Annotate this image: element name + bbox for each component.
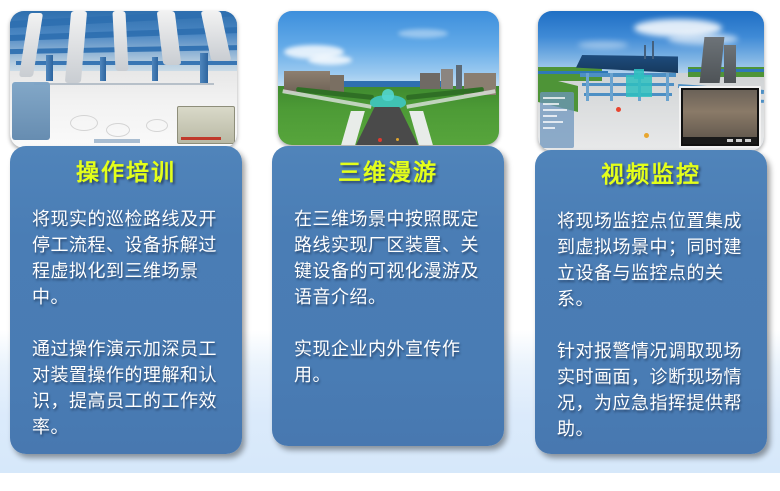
floor-circle-marking [70, 115, 98, 131]
card-paragraph: 在三维场景中按照既定路线实现厂区装置、关键设备的可视化漫游及语音介绍。 [294, 207, 484, 311]
cloud-icon [398, 29, 448, 38]
card-title-three-dimensional-roaming: 三维漫游 [272, 162, 504, 185]
marker-dot [378, 138, 382, 142]
flare-stack [652, 41, 654, 59]
alarm-marker [616, 107, 621, 112]
card-body-video-surveillance: 将现场监控点位置集成到虚拟场景中；同时建立设备与监控点的关系。 针对报警情况调取… [557, 209, 747, 443]
card-paragraph: 将现实的巡检路线及开停工流程、设备拆解过程虚拟化到三维场景中。 [32, 207, 222, 311]
card-paragraph: 针对报警情况调取现场实时画面，诊断现场情况，为应急指挥提供帮助。 [557, 339, 747, 443]
cctv-inset-window[interactable] [679, 86, 761, 148]
card-body-three-dimensional-roaming: 在三维场景中按照既定路线实现厂区装置、关键设备的可视化漫游及语音介绍。 实现企业… [294, 207, 484, 389]
plant-with-cctv-scene [538, 11, 764, 151]
background-bottom-strip [0, 473, 780, 491]
fountain-jet-icon [382, 89, 394, 101]
equipment-unit-icon [177, 106, 235, 144]
flare-stack [644, 45, 646, 59]
card-paragraph: 实现企业内外宣传作用。 [294, 337, 484, 389]
support-column-icon [200, 53, 208, 83]
building-block [420, 73, 440, 89]
video-surveillance-panel: 视频监控 将现场监控点位置集成到虚拟场景中；同时建立设备与监控点的关系。 针对报… [535, 150, 767, 454]
floor-marking [34, 83, 214, 85]
cctv-live-feed [683, 90, 757, 144]
alarm-marker [644, 133, 649, 138]
floor-circle-marking [106, 123, 130, 137]
distillation-tower [724, 45, 736, 83]
support-column-icon [100, 57, 106, 81]
marker-dot [396, 138, 399, 141]
card-paragraph: 通过操作演示加深员工对装置操作的理解和认识，提高员工的工作效率。 [32, 337, 222, 441]
building-tower [456, 65, 462, 89]
floor-logo-strip [94, 139, 140, 143]
operation-training-thumbnail [10, 11, 237, 148]
floor-circle-marking [146, 119, 168, 132]
card-title-operation-training: 操作培训 [10, 162, 242, 185]
rack-column [666, 73, 669, 101]
support-column-icon [152, 57, 158, 81]
info-panel-overlay [12, 82, 50, 140]
building-block [441, 69, 453, 89]
highlighted-equipment [634, 69, 644, 79]
card-title-video-surveillance: 视频监控 [535, 164, 767, 187]
rack-column [610, 73, 613, 101]
industrial-pipe-hall-scene [10, 11, 237, 148]
cloud-icon [578, 41, 628, 49]
scene-ui-overlay [540, 92, 574, 148]
rack-column [586, 73, 589, 101]
slide-canvas: 操作培训 将现实的巡检路线及开停工流程、设备拆解过程虚拟化到三维场景中。 通过操… [0, 0, 780, 491]
support-column-icon [46, 55, 53, 81]
card-paragraph: 将现场监控点位置集成到虚拟场景中；同时建立设备与监控点的关系。 [557, 209, 747, 313]
cloud-icon [308, 55, 352, 65]
cctv-control-bar[interactable] [683, 137, 757, 144]
operation-training-panel: 操作培训 将现实的巡检路线及开停工流程、设备拆解过程虚拟化到三维场景中。 通过操… [10, 146, 242, 454]
video-surveillance-thumbnail [538, 11, 764, 151]
city-park-flyover-scene [278, 11, 499, 145]
card-body-operation-training: 将现实的巡检路线及开停工流程、设备拆解过程虚拟化到三维场景中。 通过操作演示加深… [32, 207, 222, 441]
roaming-thumbnail [278, 11, 499, 145]
roaming-panel: 三维漫游 在三维场景中按照既定路线实现厂区装置、关键设备的可视化漫游及语音介绍。… [272, 146, 504, 446]
